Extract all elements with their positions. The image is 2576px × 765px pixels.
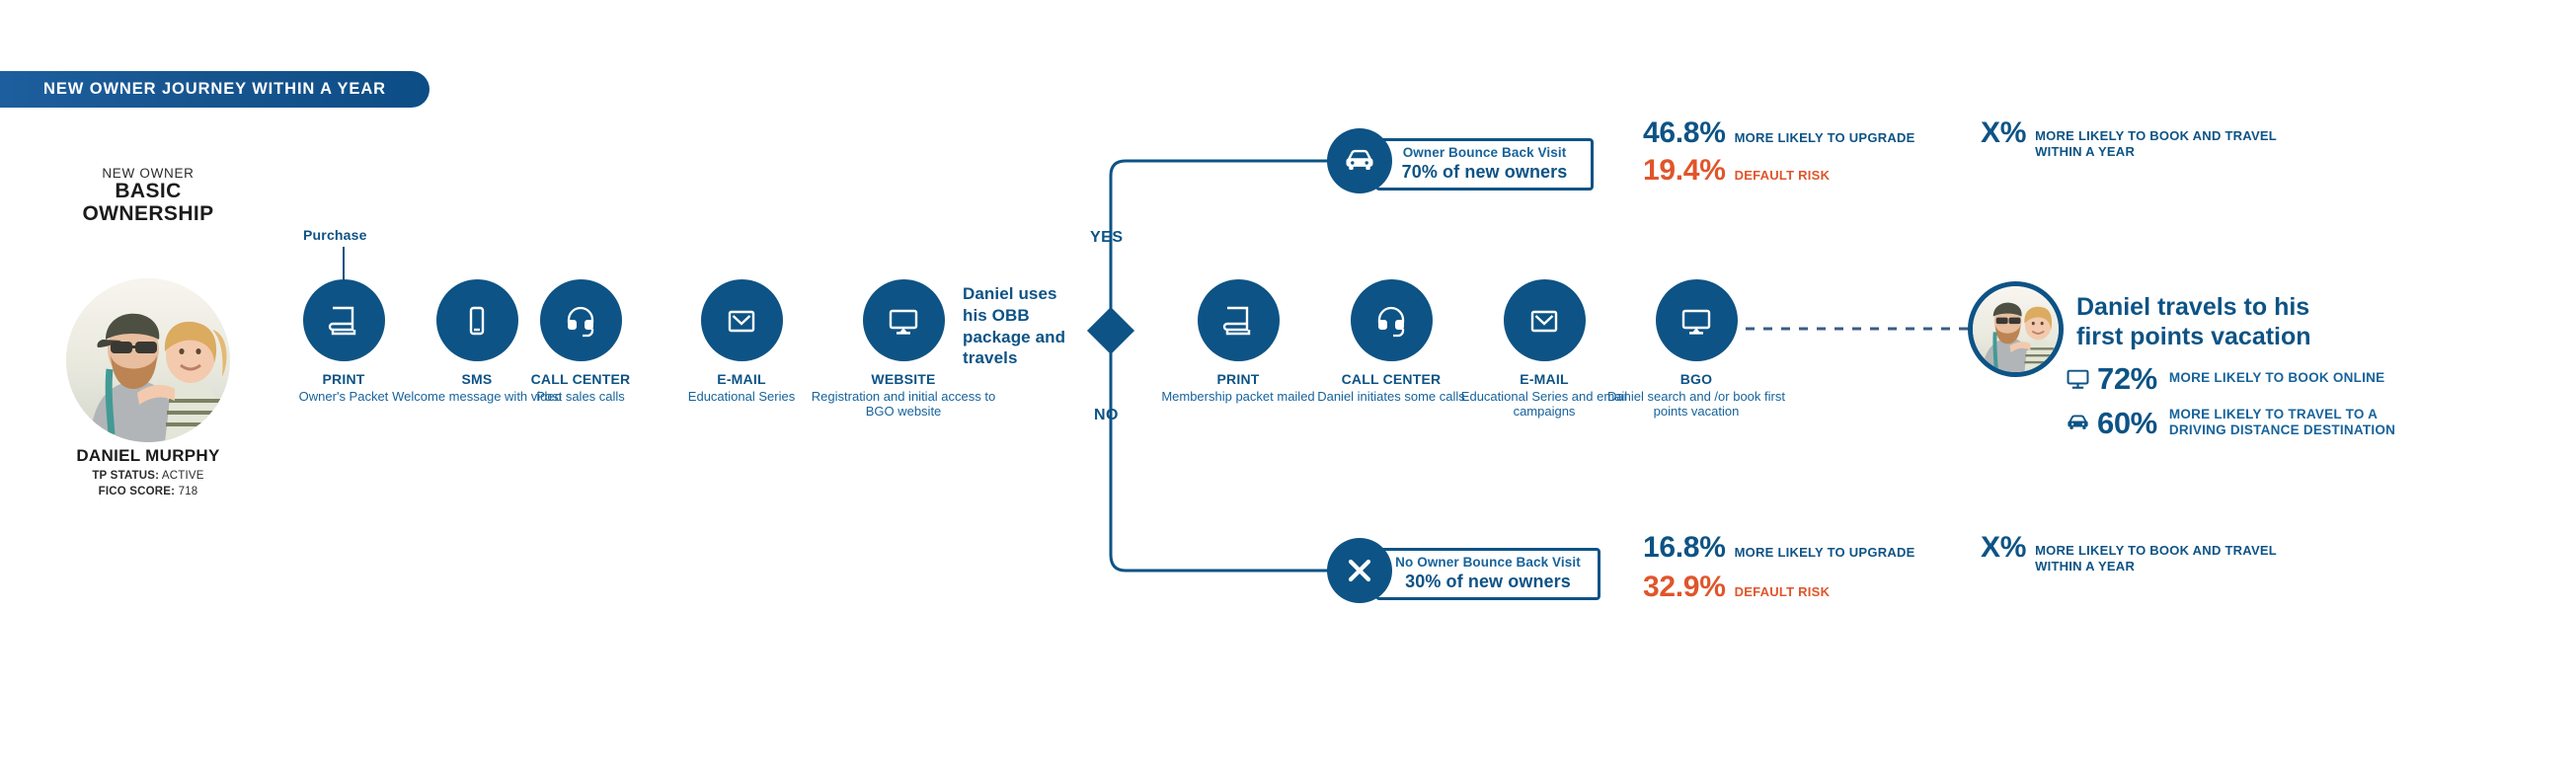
vacation-stat-label: MORE LIKELY TO TRAVEL TO A DRIVING DISTA… bbox=[2169, 407, 2395, 439]
page-title-ribbon: NEW OWNER JOURNEY WITHIN A YEAR bbox=[0, 71, 429, 108]
stat-label: MORE LIKELY TO BOOK AND TRAVEL WITHIN A … bbox=[2035, 128, 2277, 159]
close-x-icon bbox=[1343, 554, 1376, 587]
persona-details: DANIEL MURPHY TP STATUS: ACTIVE FICO SCO… bbox=[0, 446, 296, 497]
outcome-icon-owner-bounce-back bbox=[1327, 128, 1392, 193]
stat-label: MORE LIKELY TO UPGRADE bbox=[1735, 130, 1915, 146]
vacation-avatar bbox=[1968, 281, 2064, 377]
persona-fico-value: 718 bbox=[179, 486, 198, 497]
persona-title-line2: OWNERSHIP bbox=[0, 203, 296, 226]
touchpoint-call-center-post-sales[interactable]: CALL CENTER Post sales calls bbox=[489, 279, 672, 404]
car-icon bbox=[2064, 410, 2091, 436]
stat-upgrade-owner-bounce-back: 46.8% MORE LIKELY TO UPGRADE bbox=[1643, 118, 1915, 148]
touchpoint-sub: Educational Series bbox=[660, 389, 823, 405]
book-icon bbox=[1198, 279, 1280, 361]
vacation-stat-label: MORE LIKELY TO BOOK ONLINE bbox=[2169, 370, 2385, 386]
envelope-icon bbox=[1504, 279, 1586, 361]
vacation-stat-value: 60% bbox=[2097, 408, 2157, 438]
stat-label: MORE LIKELY TO UPGRADE bbox=[1735, 545, 1915, 561]
touchpoint-sub: Post sales calls bbox=[489, 389, 672, 405]
headset-icon bbox=[1351, 279, 1433, 361]
stat-value: 46.8% bbox=[1643, 118, 1726, 148]
monitor-icon bbox=[2064, 365, 2091, 392]
touchpoint-title: E-MAIL bbox=[660, 371, 823, 388]
persona-fico: FICO SCORE: 718 bbox=[0, 486, 296, 497]
persona-eyebrow: NEW OWNER bbox=[0, 166, 296, 181]
vacation-stat-driving-distance: 60% MORE LIKELY TO TRAVEL TO A DRIVING D… bbox=[2064, 407, 2395, 439]
decision-no-label: NO bbox=[1094, 407, 1119, 424]
outcome-box-line1: No Owner Bounce Back Visit bbox=[1395, 556, 1581, 571]
stat-value: X% bbox=[1981, 533, 2026, 563]
journey-infographic: NEW OWNER JOURNEY WITHIN A YEAR NEW OWNE… bbox=[0, 0, 2576, 765]
touchpoint-title: BGO bbox=[1598, 371, 1795, 388]
persona-name: DANIEL MURPHY bbox=[0, 446, 296, 466]
stat-label: DEFAULT RISK bbox=[1735, 168, 1831, 184]
outcome-box-line2: 70% of new owners bbox=[1402, 162, 1568, 183]
touchpoint-sub: Daniel search and /or book first points … bbox=[1598, 389, 1795, 420]
outcome-box-line1: Owner Bounce Back Visit bbox=[1403, 146, 1567, 161]
decision-prompt: Daniel uses his OBB package and travels bbox=[963, 283, 1065, 369]
vacation-title: Daniel travels to his first points vacat… bbox=[2076, 292, 2311, 351]
stat-default-risk-no-owner-bounce-back: 32.9% DEFAULT RISK bbox=[1643, 573, 1830, 602]
monitor-icon bbox=[1656, 279, 1738, 361]
car-icon bbox=[1342, 143, 1377, 179]
purchase-connector bbox=[343, 247, 345, 280]
outcome-icon-no-owner-bounce-back bbox=[1327, 538, 1392, 603]
stat-book-travel-owner-bounce-back: X% MORE LIKELY TO BOOK AND TRAVEL WITHIN… bbox=[1981, 118, 2277, 161]
stat-default-risk-owner-bounce-back: 19.4% DEFAULT RISK bbox=[1643, 156, 1830, 186]
touchpoint-email-educational-series[interactable]: E-MAIL Educational Series bbox=[660, 279, 823, 404]
touchpoint-title: CALL CENTER bbox=[489, 371, 672, 388]
persona-photo bbox=[66, 278, 230, 442]
stat-value: 19.4% bbox=[1643, 156, 1726, 186]
stat-book-travel-no-owner-bounce-back: X% MORE LIKELY TO BOOK AND TRAVEL WITHIN… bbox=[1981, 533, 2277, 575]
page-title: NEW OWNER JOURNEY WITHIN A YEAR bbox=[43, 80, 386, 99]
stat-value: 32.9% bbox=[1643, 573, 1726, 602]
stat-value: 16.8% bbox=[1643, 533, 1726, 563]
stat-upgrade-no-owner-bounce-back: 16.8% MORE LIKELY TO UPGRADE bbox=[1643, 533, 1915, 563]
touchpoint-bgo-search-book[interactable]: BGO Daniel search and /or book first poi… bbox=[1598, 279, 1795, 420]
vacation-stat-value: 72% bbox=[2097, 363, 2157, 394]
outcome-box-no-owner-bounce-back: No Owner Bounce Back Visit 30% of new ow… bbox=[1375, 548, 1600, 600]
stat-value: X% bbox=[1981, 118, 2026, 148]
stat-label: DEFAULT RISK bbox=[1735, 584, 1831, 600]
persona-fico-label: FICO SCORE: bbox=[99, 486, 176, 497]
persona-title-line1: BASIC bbox=[0, 181, 296, 203]
touchpoint-sub: Registration and initial access to BGO w… bbox=[807, 389, 1000, 420]
outcome-box-owner-bounce-back: Owner Bounce Back Visit 70% of new owner… bbox=[1375, 138, 1594, 191]
persona-avatar bbox=[66, 278, 230, 442]
persona-tp-status-label: TP STATUS: bbox=[92, 470, 159, 482]
stat-label: MORE LIKELY TO BOOK AND TRAVEL WITHIN A … bbox=[2035, 543, 2277, 574]
vacation-stat-book-online: 72% MORE LIKELY TO BOOK ONLINE bbox=[2064, 363, 2384, 394]
persona-heading: NEW OWNER BASIC OWNERSHIP bbox=[0, 166, 296, 225]
purchase-label: Purchase bbox=[303, 227, 367, 243]
headset-icon bbox=[540, 279, 622, 361]
persona-tp-status-value: ACTIVE bbox=[162, 470, 204, 482]
persona-tp-status: TP STATUS: ACTIVE bbox=[0, 470, 296, 482]
envelope-icon bbox=[701, 279, 783, 361]
monitor-icon bbox=[863, 279, 945, 361]
outcome-box-line2: 30% of new owners bbox=[1405, 572, 1571, 592]
touchpoint-title: WEBSITE bbox=[807, 371, 1000, 388]
vacation-photo bbox=[1973, 286, 2059, 372]
decision-yes-label: YES bbox=[1090, 229, 1124, 247]
